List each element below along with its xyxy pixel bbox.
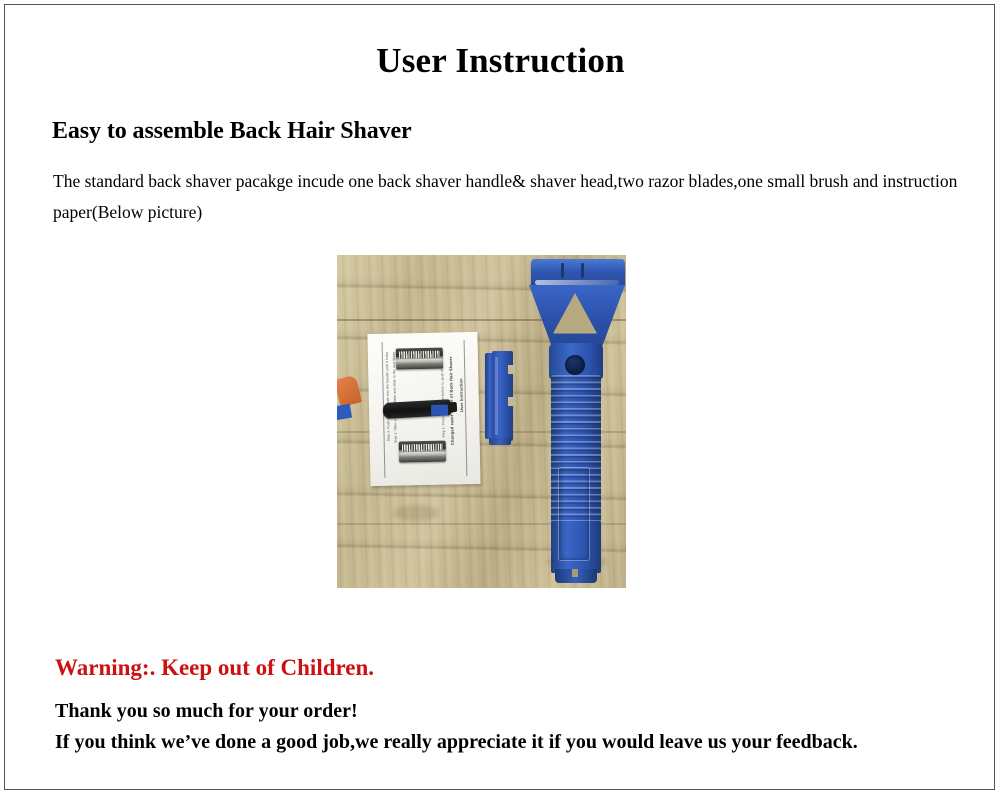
shaver-head-foot bbox=[489, 438, 511, 445]
handle-slot-right bbox=[581, 263, 584, 278]
handle-head-plate bbox=[531, 259, 625, 287]
handle-pivot-hole bbox=[565, 355, 585, 375]
handle-gloss bbox=[535, 280, 619, 285]
shaver-head bbox=[485, 351, 515, 441]
handle-slot-left bbox=[561, 263, 564, 278]
razor-cartridge-top bbox=[396, 348, 443, 370]
section-heading: Easy to assemble Back Hair Shaver bbox=[52, 118, 412, 145]
cartridge-blade bbox=[398, 359, 441, 364]
cartridge-teeth bbox=[402, 444, 443, 452]
instruction-paper: User Instruction Changed razor blades of… bbox=[367, 332, 480, 486]
blue-object bbox=[337, 404, 352, 421]
product-photo: User Instruction Changed razor blades of… bbox=[337, 255, 626, 588]
handle-lower-body bbox=[551, 521, 601, 573]
paper-rule-2 bbox=[464, 340, 468, 476]
cartridge-teeth bbox=[399, 351, 440, 359]
feedback-text: If you think we’ve done a good job,we re… bbox=[55, 731, 985, 754]
shaver-head-notch-mid bbox=[508, 397, 515, 406]
brush-blue-tip bbox=[431, 404, 448, 415]
razor-cartridge-bottom bbox=[399, 441, 446, 463]
wood-knot-1 bbox=[393, 505, 439, 521]
shaver-head-groove bbox=[495, 357, 498, 435]
handle-inset-panel bbox=[558, 467, 590, 561]
shaver-head-notch-top bbox=[508, 365, 515, 374]
page-title: User Instruction bbox=[5, 41, 996, 81]
warning-text: Warning:. Keep out of Children. bbox=[55, 655, 374, 681]
shaver-handle bbox=[523, 259, 626, 585]
handle-bottom-tip bbox=[555, 569, 597, 583]
cartridge-blade bbox=[401, 452, 444, 457]
paper-step-3: Step 3: Push the new blade into the hand… bbox=[385, 352, 391, 442]
page-frame: User Instruction Easy to assemble Back H… bbox=[4, 4, 995, 790]
body-paragraph: The standard back shaver pacakge incude … bbox=[53, 166, 963, 228]
thanks-text: Thank you so much for your order! bbox=[55, 700, 358, 723]
handle-tip-gap bbox=[572, 569, 578, 577]
paper-heading: User Instruction bbox=[458, 378, 464, 412]
